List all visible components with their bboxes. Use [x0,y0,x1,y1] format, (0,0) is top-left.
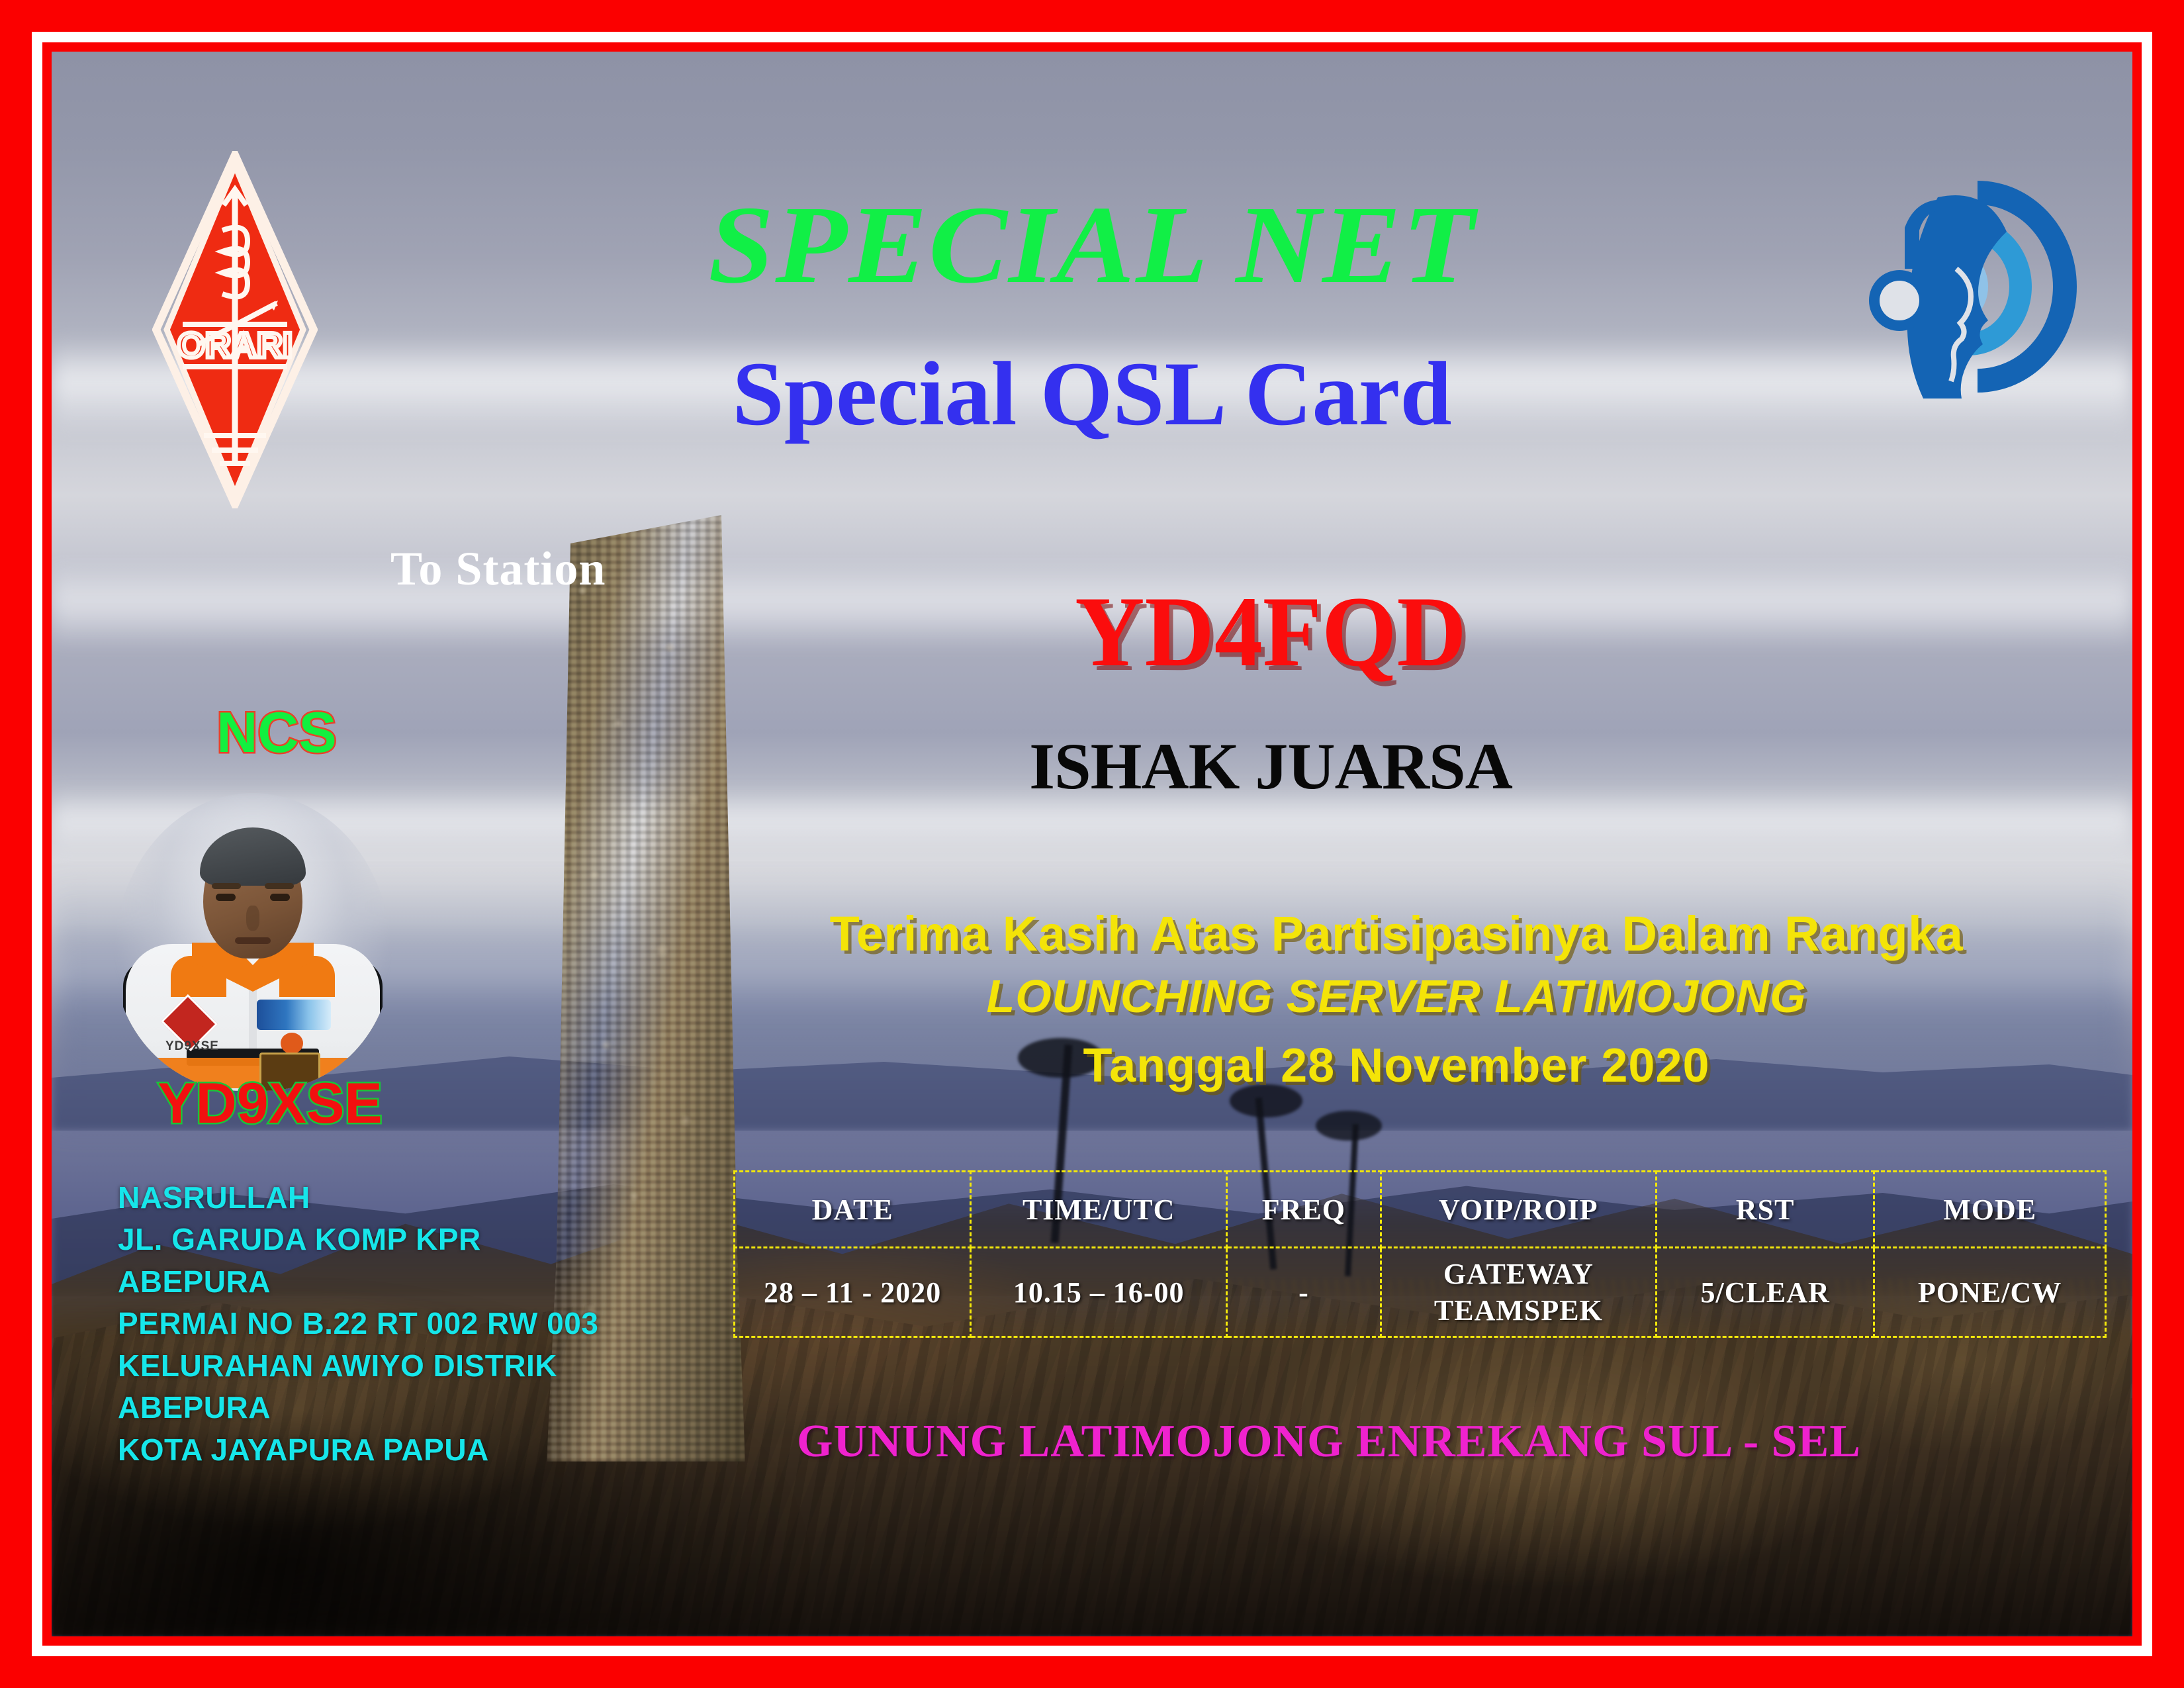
column-header-date: DATE [735,1172,971,1248]
uniform-emblem [257,1000,331,1030]
address-line: KELURAHAN AWIYO DISTRIK [118,1345,674,1387]
nose [246,906,259,931]
column-header-rst: RST [1656,1172,1874,1248]
station-callsign: YD4FQD [939,581,1602,682]
footer-address: Address : amatir.latimojong.com [1316,1627,2040,1636]
address-line: PERMAI NO B.22 RT 002 RW 003 [118,1303,674,1344]
event-line-3: Tanggal 28 November 2020 [780,1031,2013,1100]
cell-freq: - [1227,1248,1381,1337]
address-line: NASRULLAH [118,1177,674,1219]
event-line-2: LOUNCHING SERVER LATIMOJONG [780,962,2013,1031]
column-header-time: TIME/UTC [971,1172,1227,1248]
cell-mode: PONE/CW [1874,1248,2106,1337]
cell-voip-line-1: GATEWAY [1383,1256,1655,1292]
event-line-1: Terima Kasih Atas Partisipasinya Dalam R… [780,906,2013,962]
eyebrow-right [265,883,294,889]
ncs-label: NCS [171,700,383,766]
cell-time: 10.15 – 16-00 [971,1248,1227,1337]
qso-table: DATE TIME/UTC FREQ VOIP/ROIP RST MODE 28… [733,1170,2107,1338]
card-white-border: ORARI SPECIAL NET Specia [32,32,2152,1656]
mouth [235,937,271,944]
id-card-clip [281,1033,303,1054]
to-station-label: To Station [390,541,606,596]
operator-name: ISHAK JUARSA [925,733,1616,800]
eyebrow-left [212,883,241,889]
tree-canopy [1316,1111,1382,1141]
column-header-voip: VOIP/ROIP [1381,1172,1656,1248]
card-photo-background: ORARI SPECIAL NET Specia [52,52,2132,1636]
cell-voip: GATEWAY TEAMSPEK [1381,1248,1656,1337]
eye-left [216,894,236,901]
cell-voip-line-2: TEAMSPEK [1383,1292,1655,1329]
page-title: SPECIAL NET [52,189,2132,301]
address-line: KOTA JAYAPURA PAPUA [118,1429,674,1471]
column-header-freq: FREQ [1227,1172,1381,1248]
footer-motto: "AMATIR RADIO ADALAH PROGRESIVE" [131,1627,1167,1636]
eye-right [270,894,290,901]
table-row: 28 – 11 - 2020 10.15 – 16-00 - GATEWAY T… [735,1248,2106,1337]
qsl-card: ORARI SPECIAL NET Specia [0,0,2184,1688]
table-header-row: DATE TIME/UTC FREQ VOIP/ROIP RST MODE [735,1172,2106,1248]
address-line: ABEPURA [118,1387,674,1429]
ncs-callsign: YD9XSE [118,1071,422,1137]
page-subtitle: Special QSL Card [52,348,2132,440]
column-header-mode: MODE [1874,1172,2106,1248]
address-line: ABEPURA [118,1261,674,1303]
location-text: GUNUNG LATIMOJONG ENREKANG SUL - SEL [700,1415,1958,1468]
event-text-block: Terima Kasih Atas Partisipasinya Dalam R… [780,906,2013,1100]
cell-rst: 5/CLEAR [1656,1248,1874,1337]
uniform-callsign-patch: YD9XSE [165,1039,219,1054]
address-line: JL. GARUDA KOMP KPR [118,1219,674,1260]
cell-date: 28 – 11 - 2020 [735,1248,971,1337]
ncs-operator-photo: YD9XSE [114,793,392,1091]
address-block: NASRULLAH JL. GARUDA KOMP KPR ABEPURA PE… [118,1177,674,1471]
card-inner-red-border: ORARI SPECIAL NET Specia [42,42,2142,1646]
